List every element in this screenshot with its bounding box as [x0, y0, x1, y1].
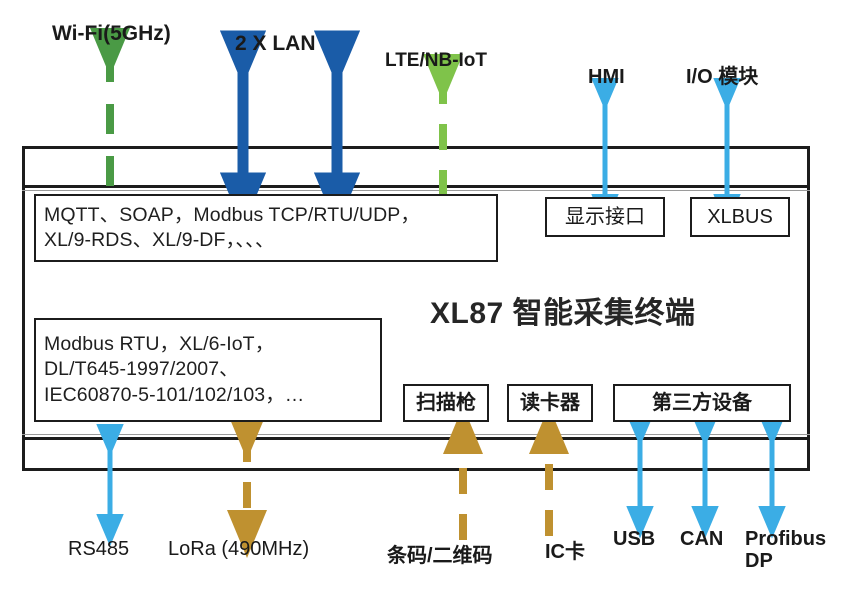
upper-protocol-text: MQTT、SOAP，Modbus TCP/RTU/UDP， XL/9-RDS、X…: [36, 203, 428, 254]
port-box-xlbus: XLBUS: [690, 197, 790, 237]
label-profibus-dp: Profibus DP: [745, 528, 826, 573]
port-box-label: 扫描枪: [408, 390, 484, 416]
label-hmi: HMI: [588, 66, 625, 88]
label-wifi: Wi-Fi(5GHz): [52, 22, 171, 46]
label-rs485: RS485: [68, 538, 129, 560]
port-box-scanner: 扫描枪: [403, 384, 489, 422]
label-lan: 2 X LAN: [235, 32, 316, 56]
label-usb: USB: [613, 528, 655, 550]
port-box-third-party-device: 第三方设备: [613, 384, 791, 422]
lower-protocol-text: Modbus RTU，XL/6-IoT， DL/T645-1997/2007、 …: [36, 332, 312, 408]
label-can: CAN: [680, 528, 723, 550]
port-box-label: 第三方设备: [644, 390, 760, 416]
port-box-label: XLBUS: [699, 204, 781, 230]
port-box-card-reader: 读卡器: [507, 384, 593, 422]
label-lora: LoRa (490MHz): [168, 538, 309, 560]
product-title: XL87 智能采集终端: [430, 288, 696, 332]
label-lte-nbiot: LTE/NB-IoT: [385, 50, 487, 71]
lower-protocol-box: Modbus RTU，XL/6-IoT， DL/T645-1997/2007、 …: [34, 318, 382, 422]
port-box-label: 读卡器: [512, 390, 588, 416]
label-barcode-qrcode: 条码/二维码: [387, 545, 493, 567]
port-box-label: 显示接口: [557, 204, 653, 230]
label-io-module: I/O 模块: [686, 66, 758, 88]
diagram-canvas: MQTT、SOAP，Modbus TCP/RTU/UDP， XL/9-RDS、X…: [0, 0, 865, 613]
upper-protocol-box: MQTT、SOAP，Modbus TCP/RTU/UDP， XL/9-RDS、X…: [34, 194, 498, 262]
label-ic-card: IC卡: [545, 541, 585, 563]
port-box-display-interface: 显示接口: [545, 197, 665, 237]
